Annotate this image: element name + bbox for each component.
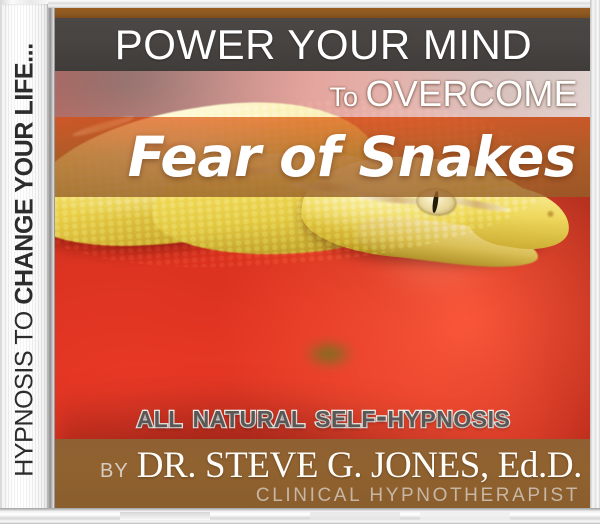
headline-text: POWER YOUR MIND xyxy=(115,24,532,66)
subhead-large-text: OVERCOME xyxy=(366,73,578,114)
subhead-band: To OVERCOME xyxy=(55,71,592,117)
snake-nostril xyxy=(546,210,555,218)
cover-artwork: POWER YOUR MIND To OVERCOME Fear of Snak… xyxy=(55,7,592,510)
cd-spine: HYPNOSIS TO CHANGE YOUR LIFE... xyxy=(2,4,48,516)
spine-hinge-gap xyxy=(48,2,55,520)
byline-prefix: BY xyxy=(100,460,129,483)
byline: BY DR. STEVE G. JONES, Ed.D. xyxy=(69,444,582,487)
author-name: DR. STEVE G. JONES, Ed.D. xyxy=(137,444,582,487)
headline-band: POWER YOUR MIND xyxy=(55,18,592,71)
cd-jewel-case: HYPNOSIS TO CHANGE YOUR LIFE... xyxy=(0,0,600,524)
subhead-small-text: To xyxy=(330,82,366,112)
topic-title-text: Fear of Snakes xyxy=(128,130,576,185)
case-edge-top xyxy=(48,0,600,8)
subhead-text: To OVERCOME xyxy=(330,76,578,112)
case-edge-right xyxy=(590,0,600,524)
topic-title-band: Fear of Snakes xyxy=(55,117,592,197)
case-edge-bottom xyxy=(0,508,600,524)
author-credential: CLINICAL HYPNOTHERAPIST xyxy=(256,485,580,507)
spine-text: HYPNOSIS TO CHANGE YOUR LIFE... xyxy=(11,43,40,477)
method-line-wrapper: All Natural Self-Hypnosis xyxy=(55,392,592,439)
spine-emphasis-text: CHANGE YOUR LIFE... xyxy=(11,43,39,304)
top-accent-strip xyxy=(55,7,592,18)
method-line-text: All Natural Self-Hypnosis xyxy=(137,399,511,432)
spine-lead-text: HYPNOSIS TO xyxy=(11,305,39,477)
author-bar: BY DR. STEVE G. JONES, Ed.D. CLINICAL HY… xyxy=(55,439,592,510)
